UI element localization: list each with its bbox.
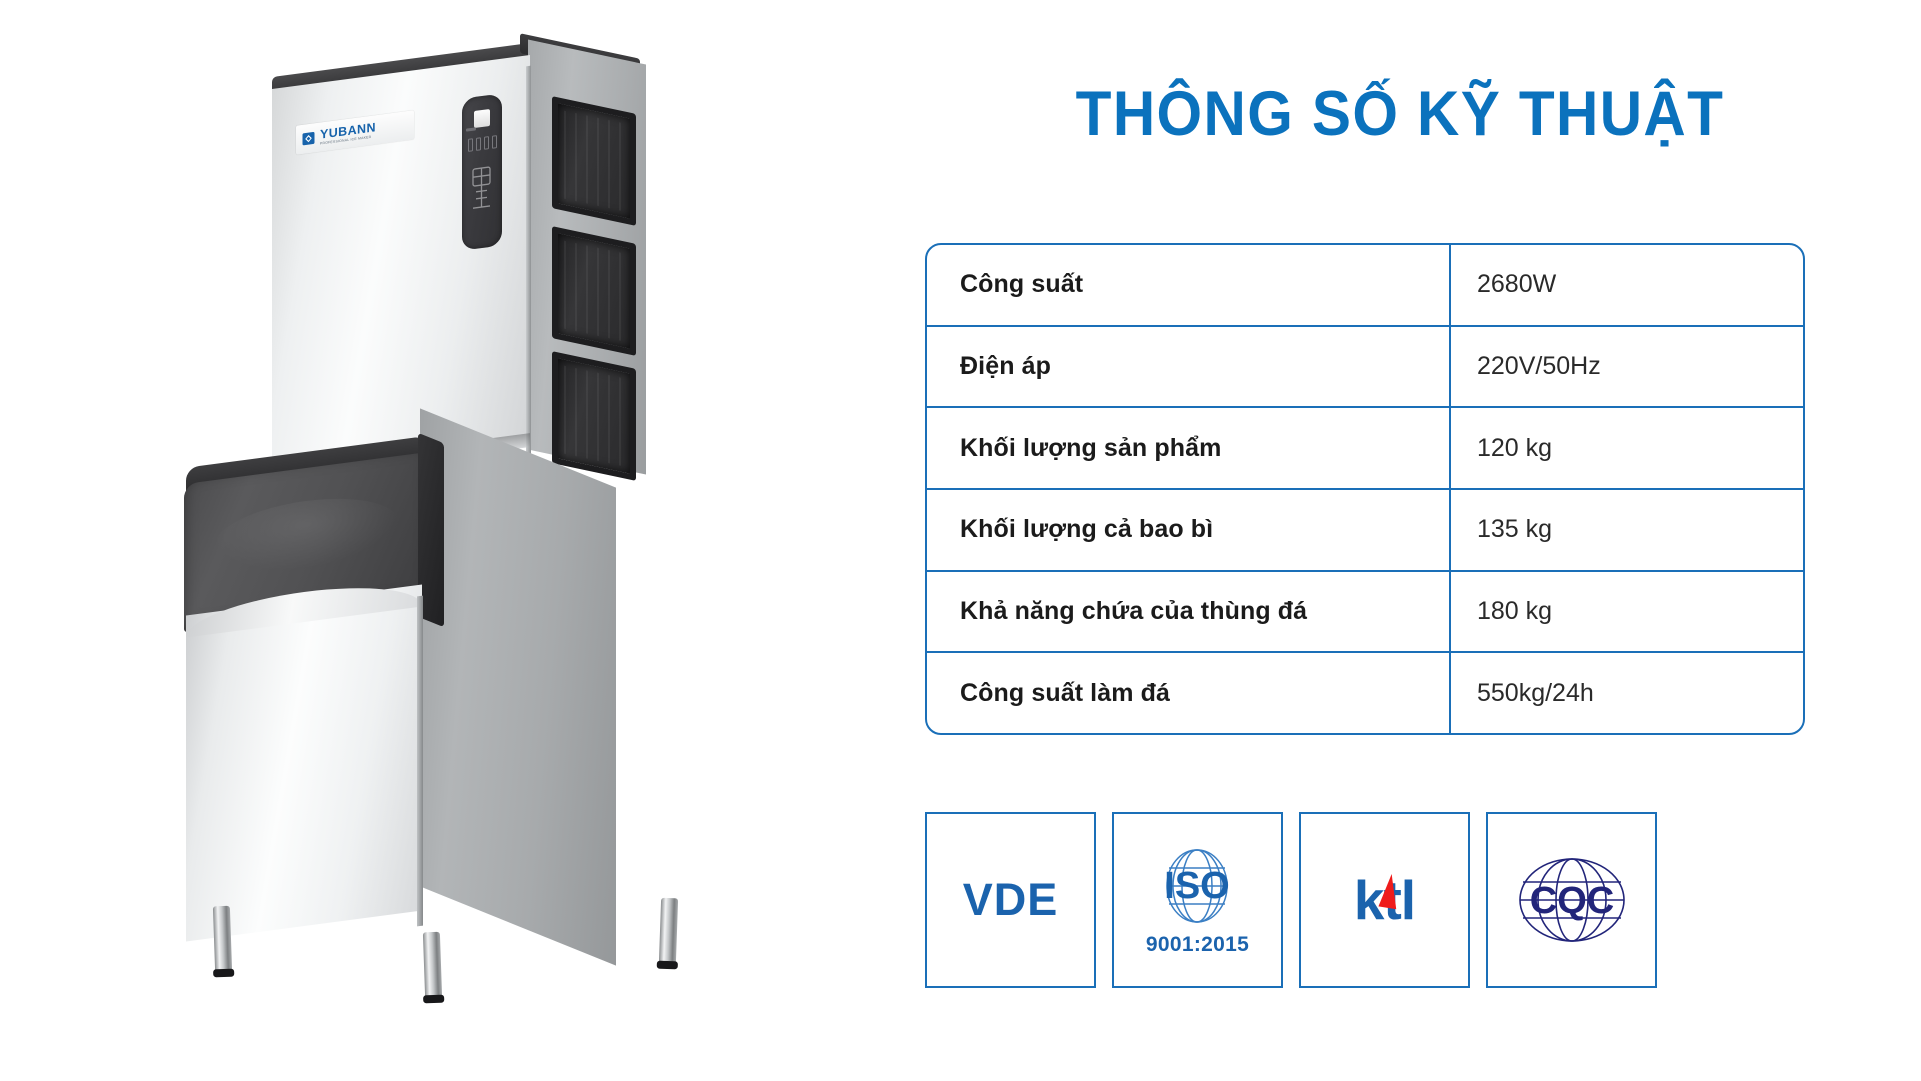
product-image: YUBANN PROFESSIONAL ICE MAKER	[0, 0, 900, 1081]
spec-value: 135 kg	[1449, 490, 1803, 570]
spec-label: Khả năng chứa của thùng đá	[927, 572, 1449, 652]
spec-label: Khối lượng sản phẩm	[927, 408, 1449, 488]
cqc-logo-text: CQC	[1529, 880, 1613, 922]
iso-logo-text: ISO	[1165, 865, 1230, 907]
table-row: Khối lượng cả bao bì 135 kg	[927, 488, 1803, 570]
ktl-logo: ktl	[1354, 868, 1415, 932]
cqc-globe-icon: CQC	[1507, 846, 1637, 954]
table-row: Công suất làm đá 550kg/24h	[927, 651, 1803, 733]
adjustable-leg-right	[659, 898, 678, 965]
vent-grille-middle	[552, 226, 636, 356]
power-button[interactable]	[474, 109, 490, 128]
iso-standard-number: 9001:2015	[1146, 933, 1249, 957]
vent-grille-bottom	[552, 351, 636, 481]
brand-diamond-icon	[301, 130, 316, 147]
table-row: Khối lượng sản phẩm 120 kg	[927, 406, 1803, 488]
spec-label: Công suất	[927, 245, 1449, 325]
certification-badge-iso: ISO 9001:2015	[1112, 812, 1283, 988]
certification-badge-vde: VDE	[925, 812, 1096, 988]
certification-badge-cqc: CQC	[1486, 812, 1657, 988]
bin-front-panel	[186, 584, 422, 941]
spec-value: 2680W	[1449, 245, 1803, 325]
machine-corner-edge	[526, 66, 531, 459]
iso-globe-icon: ISO	[1149, 843, 1245, 929]
table-row: Điện áp 220V/50Hz	[927, 325, 1803, 407]
adjustable-leg-left	[213, 906, 232, 973]
table-row: Công suất 2680W	[927, 245, 1803, 325]
spec-value: 550kg/24h	[1449, 653, 1803, 733]
bin-corner-edge	[417, 596, 423, 927]
vent-grille-top	[552, 96, 636, 226]
certification-badge-ktl: ktl	[1299, 812, 1470, 988]
spec-value: 120 kg	[1449, 408, 1803, 488]
spec-label: Khối lượng cả bao bì	[927, 490, 1449, 570]
ice-cube-icon	[466, 160, 498, 216]
table-row: Khả năng chứa của thùng đá 180 kg	[927, 570, 1803, 652]
adjustable-leg-center	[423, 932, 442, 999]
bin-side-panel	[420, 408, 616, 965]
certification-badges: VDE ISO 9001:2015 ktl	[925, 812, 1805, 988]
specification-table: Công suất 2680W Điện áp 220V/50Hz Khối l…	[925, 243, 1805, 735]
spec-value: 220V/50Hz	[1449, 327, 1803, 407]
page-title: THÔNG SỐ KỸ THUẬT	[935, 78, 1865, 150]
spec-label: Điện áp	[927, 327, 1449, 407]
specifications-panel: THÔNG SỐ KỸ THUẬT Công suất 2680W Điện á…	[900, 0, 1921, 1081]
vde-logo-text: VDE	[963, 874, 1059, 926]
spec-value: 180 kg	[1449, 572, 1803, 652]
spec-label: Công suất làm đá	[927, 653, 1449, 733]
